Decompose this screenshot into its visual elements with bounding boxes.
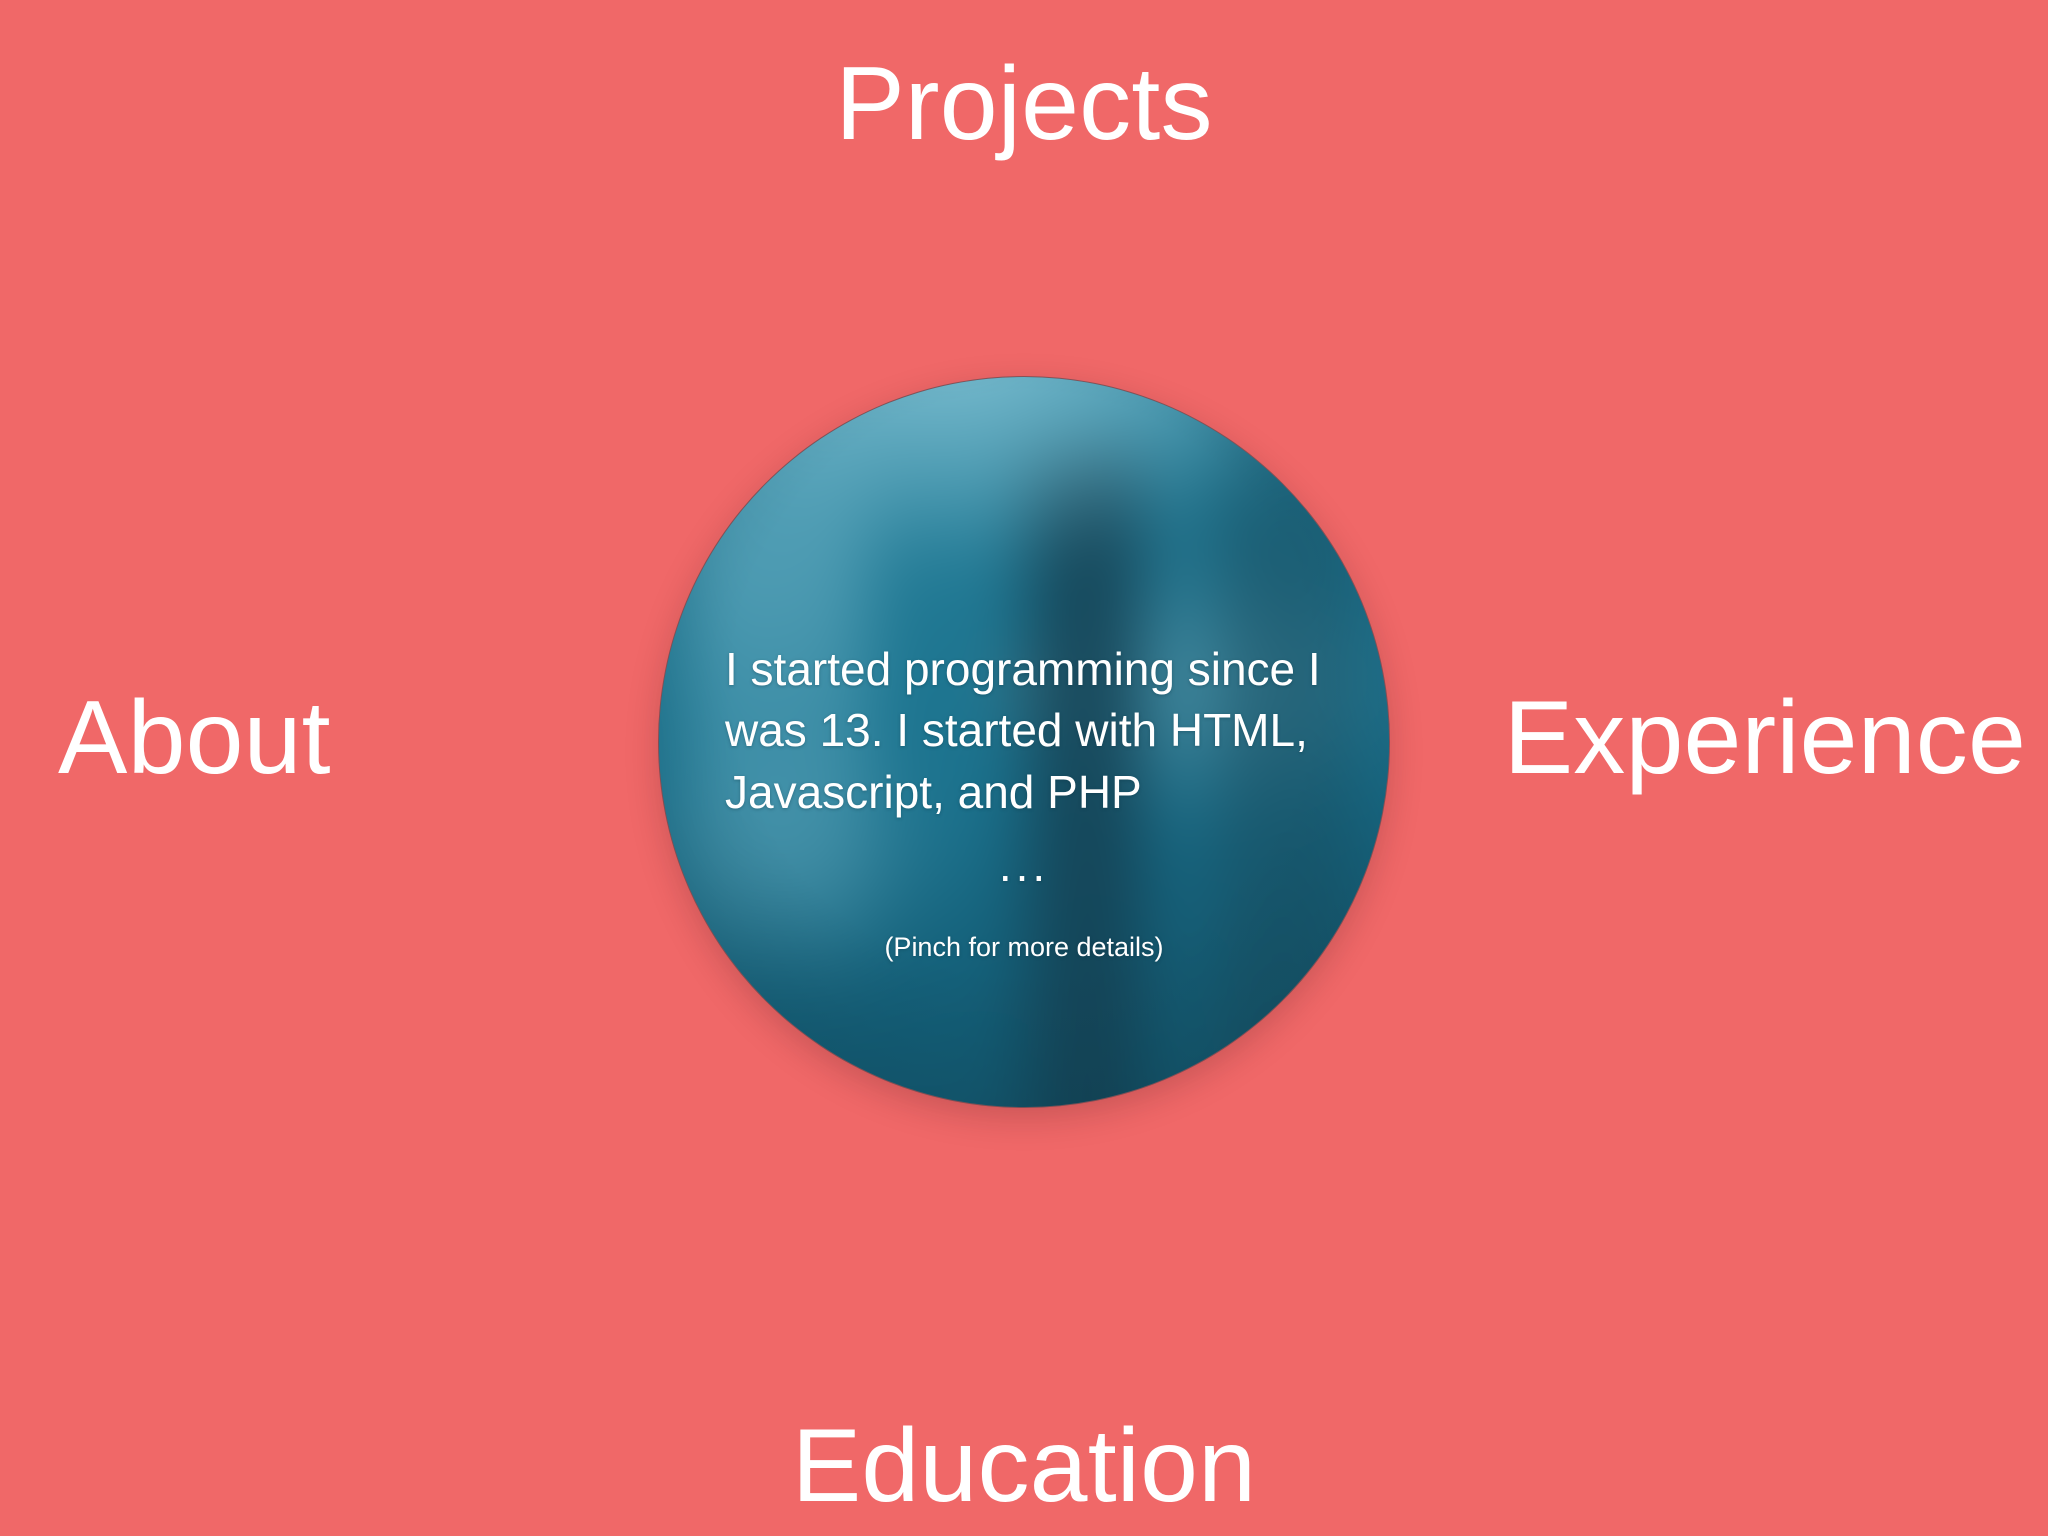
about-detail-card[interactable]: I started programming since I was 13. I … [659,377,1389,1107]
card-content: I started programming since I was 13. I … [719,521,1329,963]
card-body-text: I started programming since I was 13. I … [725,639,1325,824]
nav-item-education[interactable]: Education [0,1414,2048,1518]
card-pinch-hint: (Pinch for more details) [884,932,1163,963]
nav-item-about[interactable]: About [58,686,331,790]
card-truncation-ellipsis: ... [999,840,1049,891]
nav-item-projects[interactable]: Projects [0,52,2048,156]
nav-item-experience[interactable]: Experience [1504,686,2026,790]
